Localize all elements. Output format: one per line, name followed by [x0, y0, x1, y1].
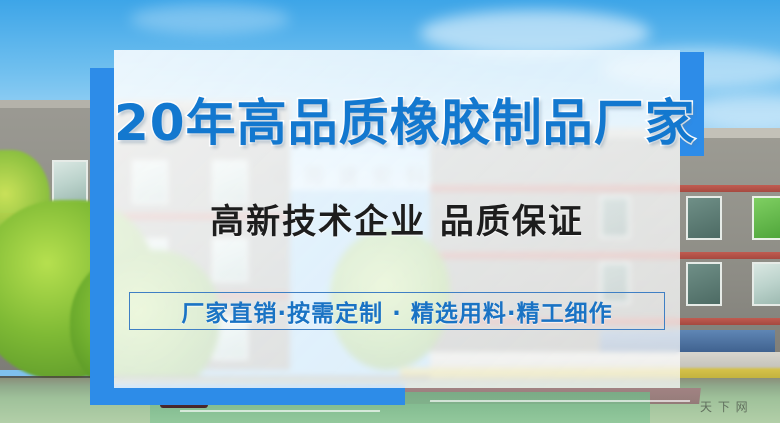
- headline-text: 20年高品质橡胶制品厂家: [114, 98, 680, 148]
- window: [686, 196, 722, 240]
- court-line: [430, 400, 690, 402]
- window: [686, 262, 722, 306]
- cloud: [130, 4, 290, 34]
- banner-content: 20年高品质橡胶制品厂家 高新技术企业 品质保证 厂家直销·按需定制 · 精选用…: [114, 50, 680, 388]
- tagline-box: 厂家直销·按需定制 · 精选用料·精工细作: [129, 292, 665, 330]
- tagline-text: 厂家直销·按需定制 · 精选用料·精工细作: [181, 294, 612, 328]
- subheadline-text: 高新技术企业 品质保证: [114, 205, 680, 239]
- photo-watermark: 天 下 网: [700, 398, 749, 415]
- window: [752, 196, 780, 240]
- window: [52, 160, 88, 204]
- promo-banner: 东莞速安科 天 下 网 20年高品质橡胶制品厂家 高新技术企业 品质保证 厂家直…: [0, 0, 780, 423]
- window: [752, 262, 780, 306]
- court-line: [180, 410, 380, 412]
- frame-accent-left: [90, 68, 114, 405]
